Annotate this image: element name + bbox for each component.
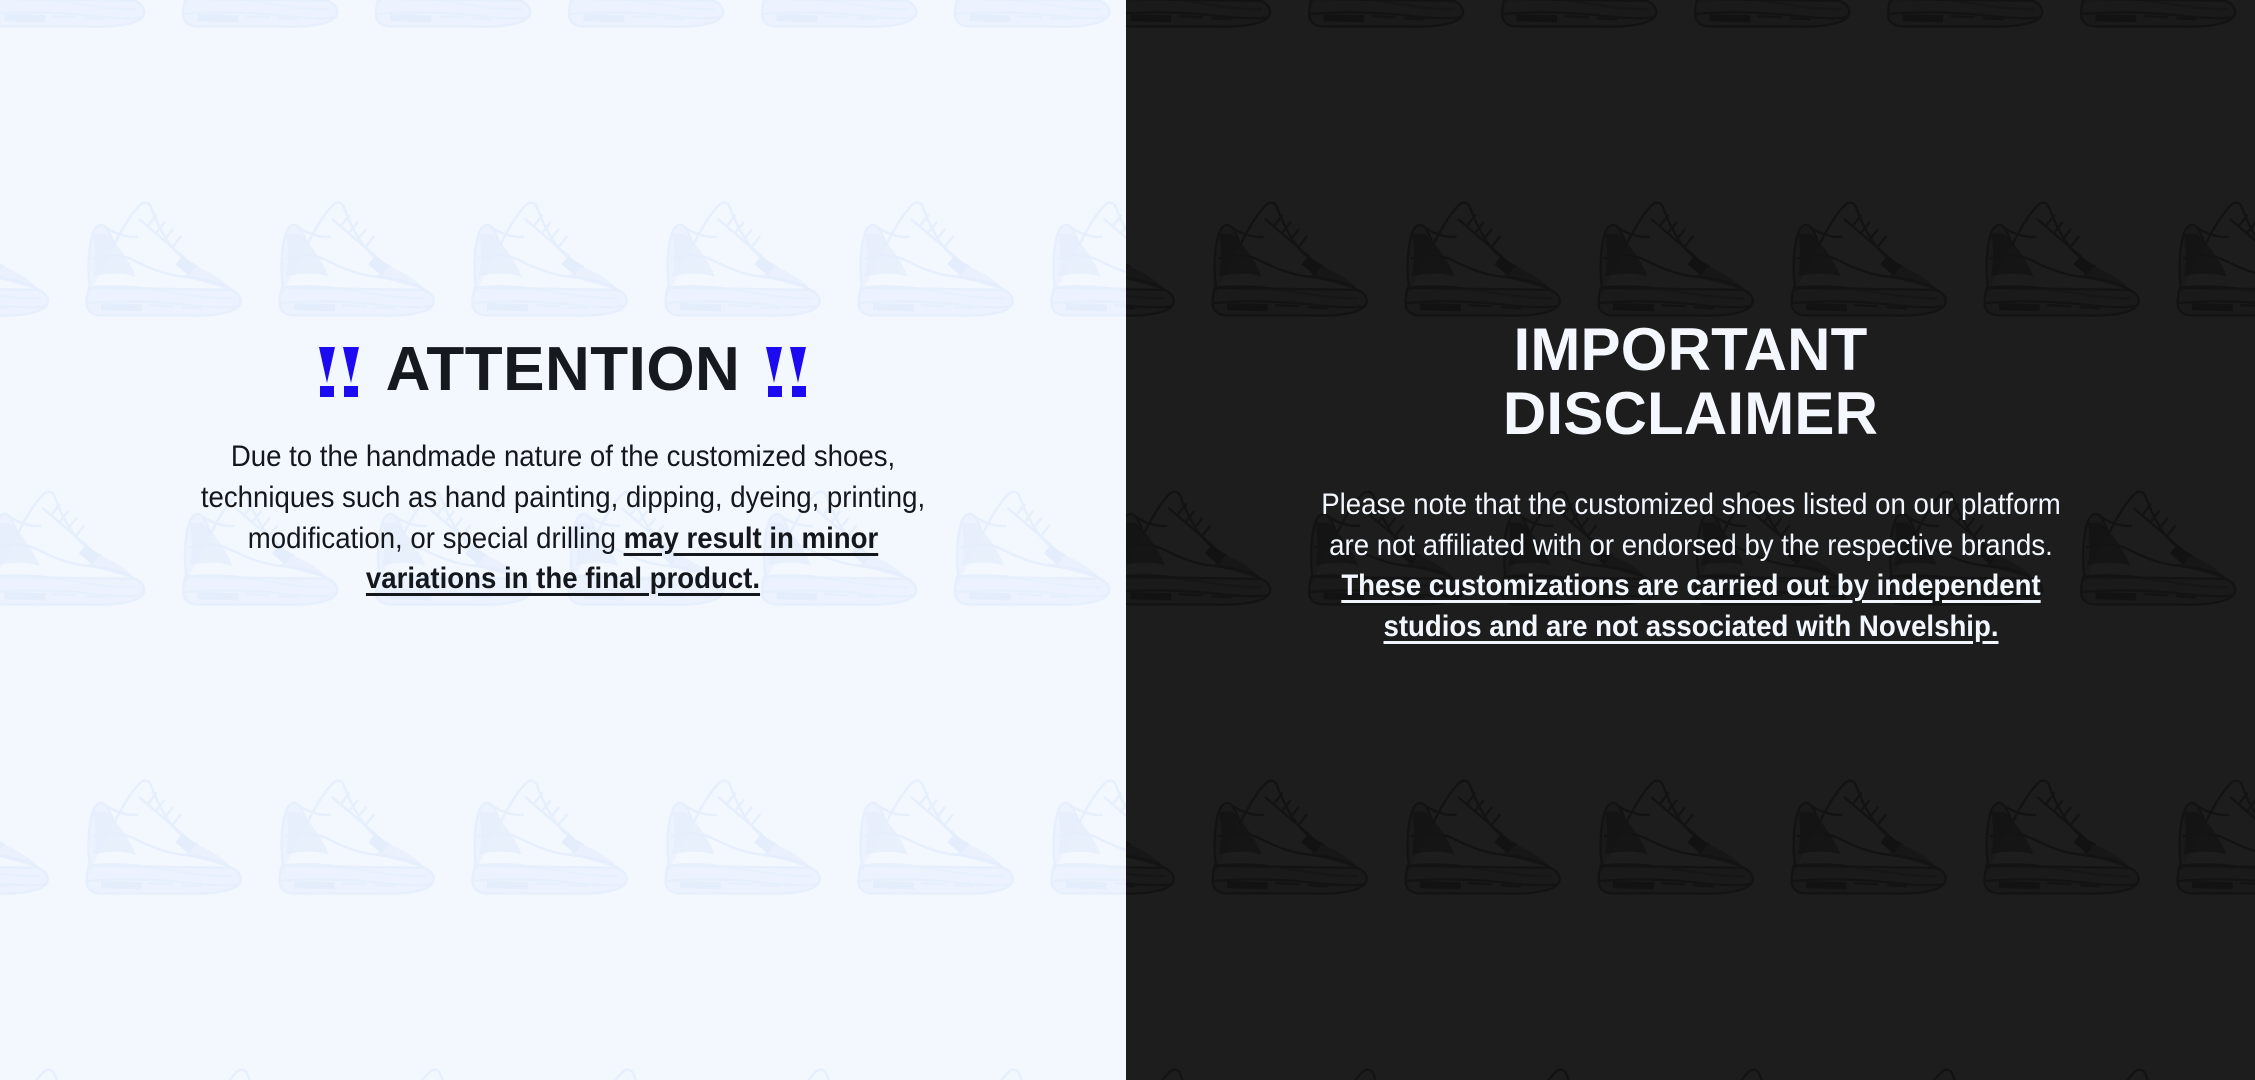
disclaimer-body-normal: Please note that the customized shoes li… — [1321, 488, 2060, 562]
attention-content: ATTENTION Due to the handmade nature of … — [0, 338, 1126, 600]
double-exclamation-icon — [319, 347, 360, 397]
disclaimer-content: IMPORTANT DISCLAIMER Please note that th… — [1126, 318, 2255, 648]
disclaimer-banner: ATTENTION Due to the handmade nature of … — [0, 0, 2255, 1080]
disclaimer-heading: IMPORTANT DISCLAIMER — [1126, 318, 2255, 445]
attention-body: Due to the handmade nature of the custom… — [195, 437, 931, 600]
disclaimer-body-emphasis: These customizations are carried out by … — [1341, 569, 2040, 643]
attention-panel: ATTENTION Due to the handmade nature of … — [0, 0, 1126, 1080]
attention-heading-text: ATTENTION — [386, 338, 741, 401]
disclaimer-body: Please note that the customized shoes li… — [1318, 485, 2063, 648]
attention-heading: ATTENTION — [0, 338, 1126, 401]
disclaimer-panel: IMPORTANT DISCLAIMER Please note that th… — [1126, 0, 2255, 1080]
disclaimer-heading-line1: IMPORTANT — [1126, 318, 2255, 382]
double-exclamation-icon — [766, 347, 807, 397]
disclaimer-heading-line2: DISCLAIMER — [1126, 382, 2255, 446]
